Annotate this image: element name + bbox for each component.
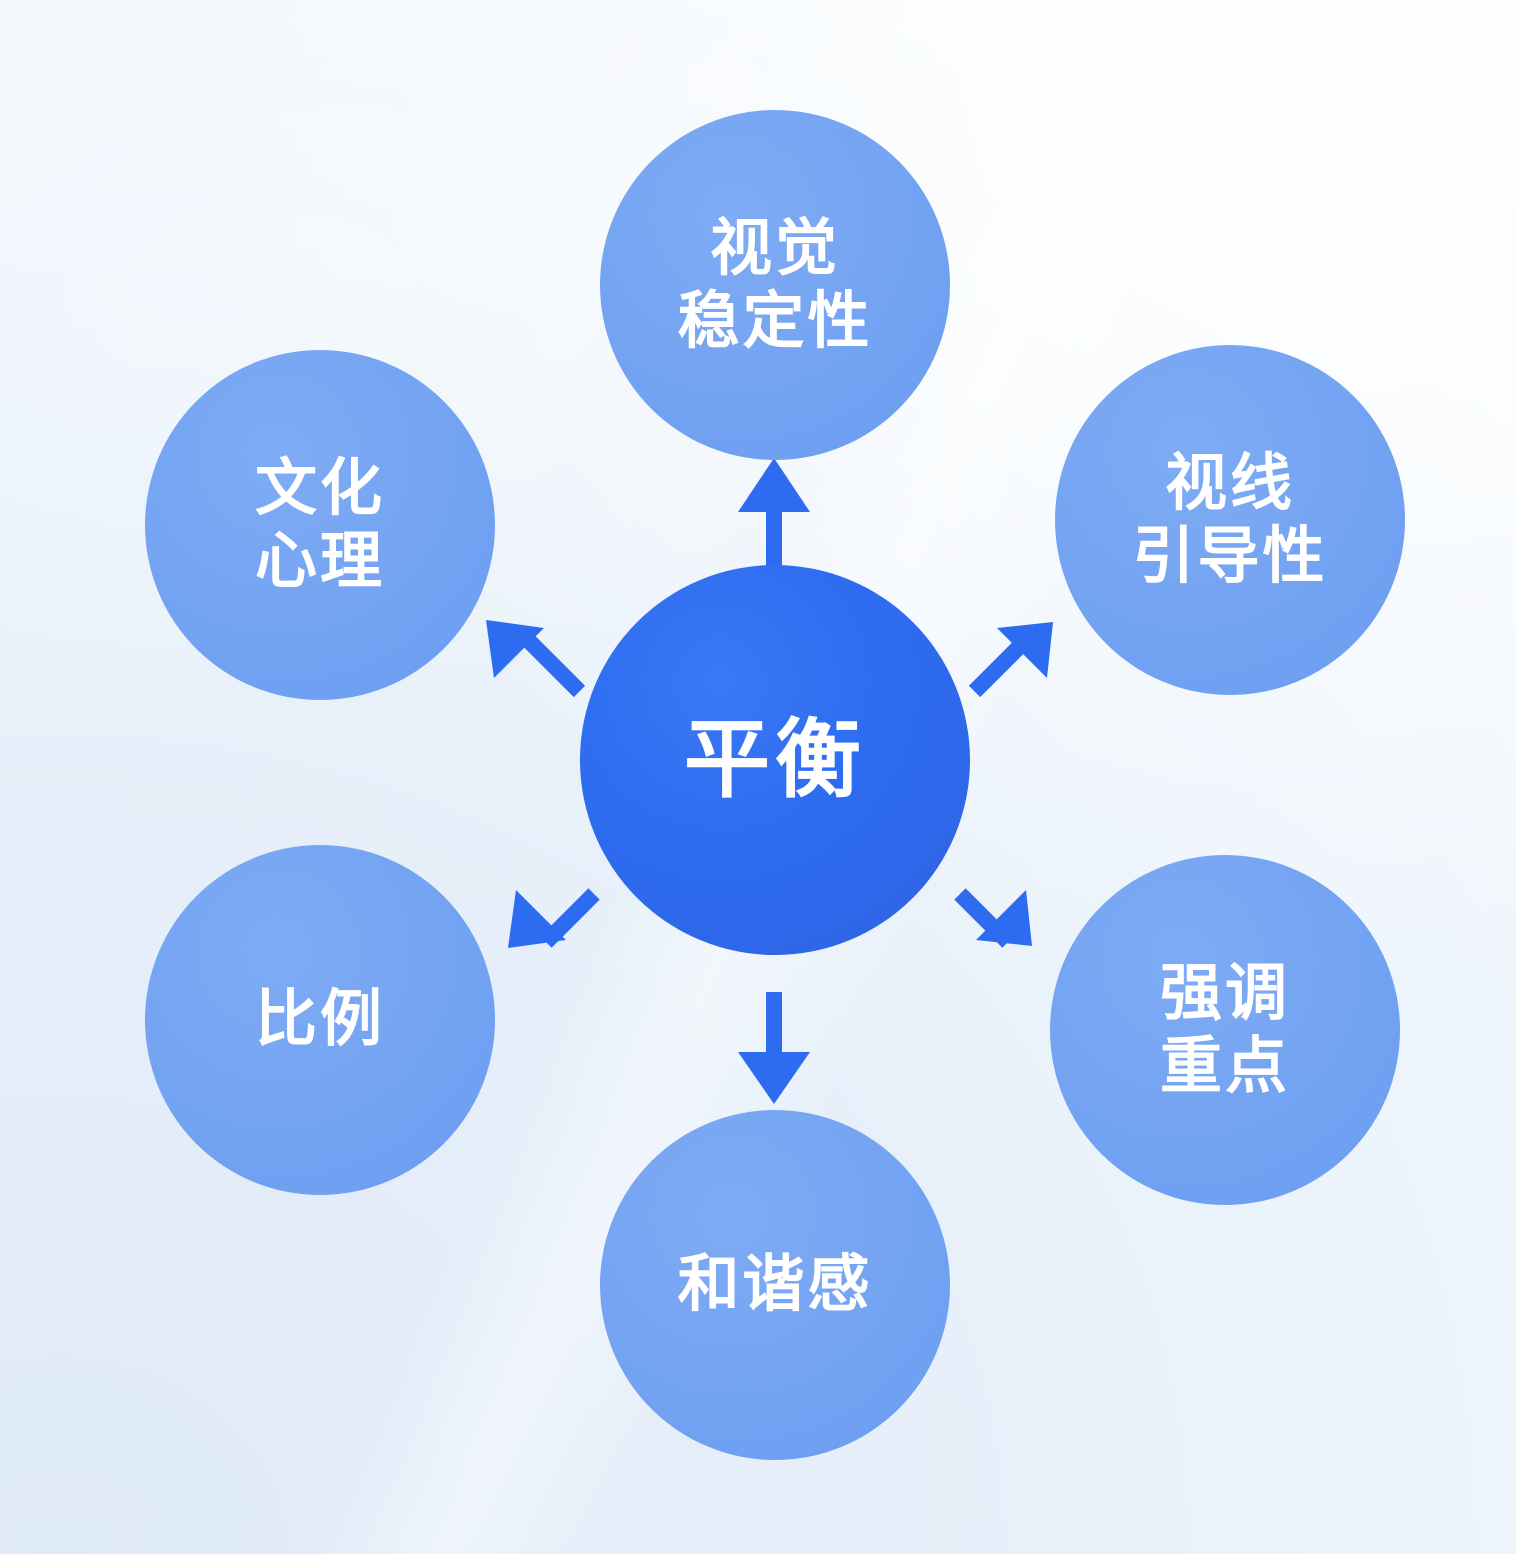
node-label-line: 文化 [255,452,385,525]
node-label-line: 重点 [1160,1030,1290,1103]
arrow-down-right-icon [954,888,1032,947]
node-label-line: 引导性 [1132,520,1327,593]
node-cultural-psychology[interactable]: 文化 心理 [145,350,495,700]
node-label-line: 稳定性 [677,285,872,358]
arrow-down-left-icon [508,888,600,948]
node-emphasis-focus[interactable]: 强调 重点 [1050,855,1400,1205]
arrow-down-icon [738,992,810,1104]
node-visual-stability[interactable]: 视觉 稳定性 [600,110,950,460]
node-label-line: 强调 [1160,957,1290,1030]
node-gaze-guidance[interactable]: 视线 引导性 [1055,345,1405,695]
node-label-line: 和谐感 [677,1248,872,1321]
arrow-up-left-icon [486,620,585,697]
node-proportion[interactable]: 比例 [145,845,495,1195]
center-node-balance[interactable]: 平衡 [580,565,970,955]
arrow-up-right-icon [969,622,1053,697]
node-label-line: 比例 [255,983,385,1056]
node-label-line: 心理 [255,525,385,598]
diagram-canvas: 平衡 视觉 稳定性 视线 引导性 强调 重点 和谐感 比例 文化 心理 [0,0,1516,1554]
arrow-up-icon [738,458,810,578]
center-node-label: 平衡 [684,715,866,805]
node-harmony[interactable]: 和谐感 [600,1110,950,1460]
node-label-line: 视觉 [710,212,840,285]
node-label-line: 视线 [1165,447,1295,520]
